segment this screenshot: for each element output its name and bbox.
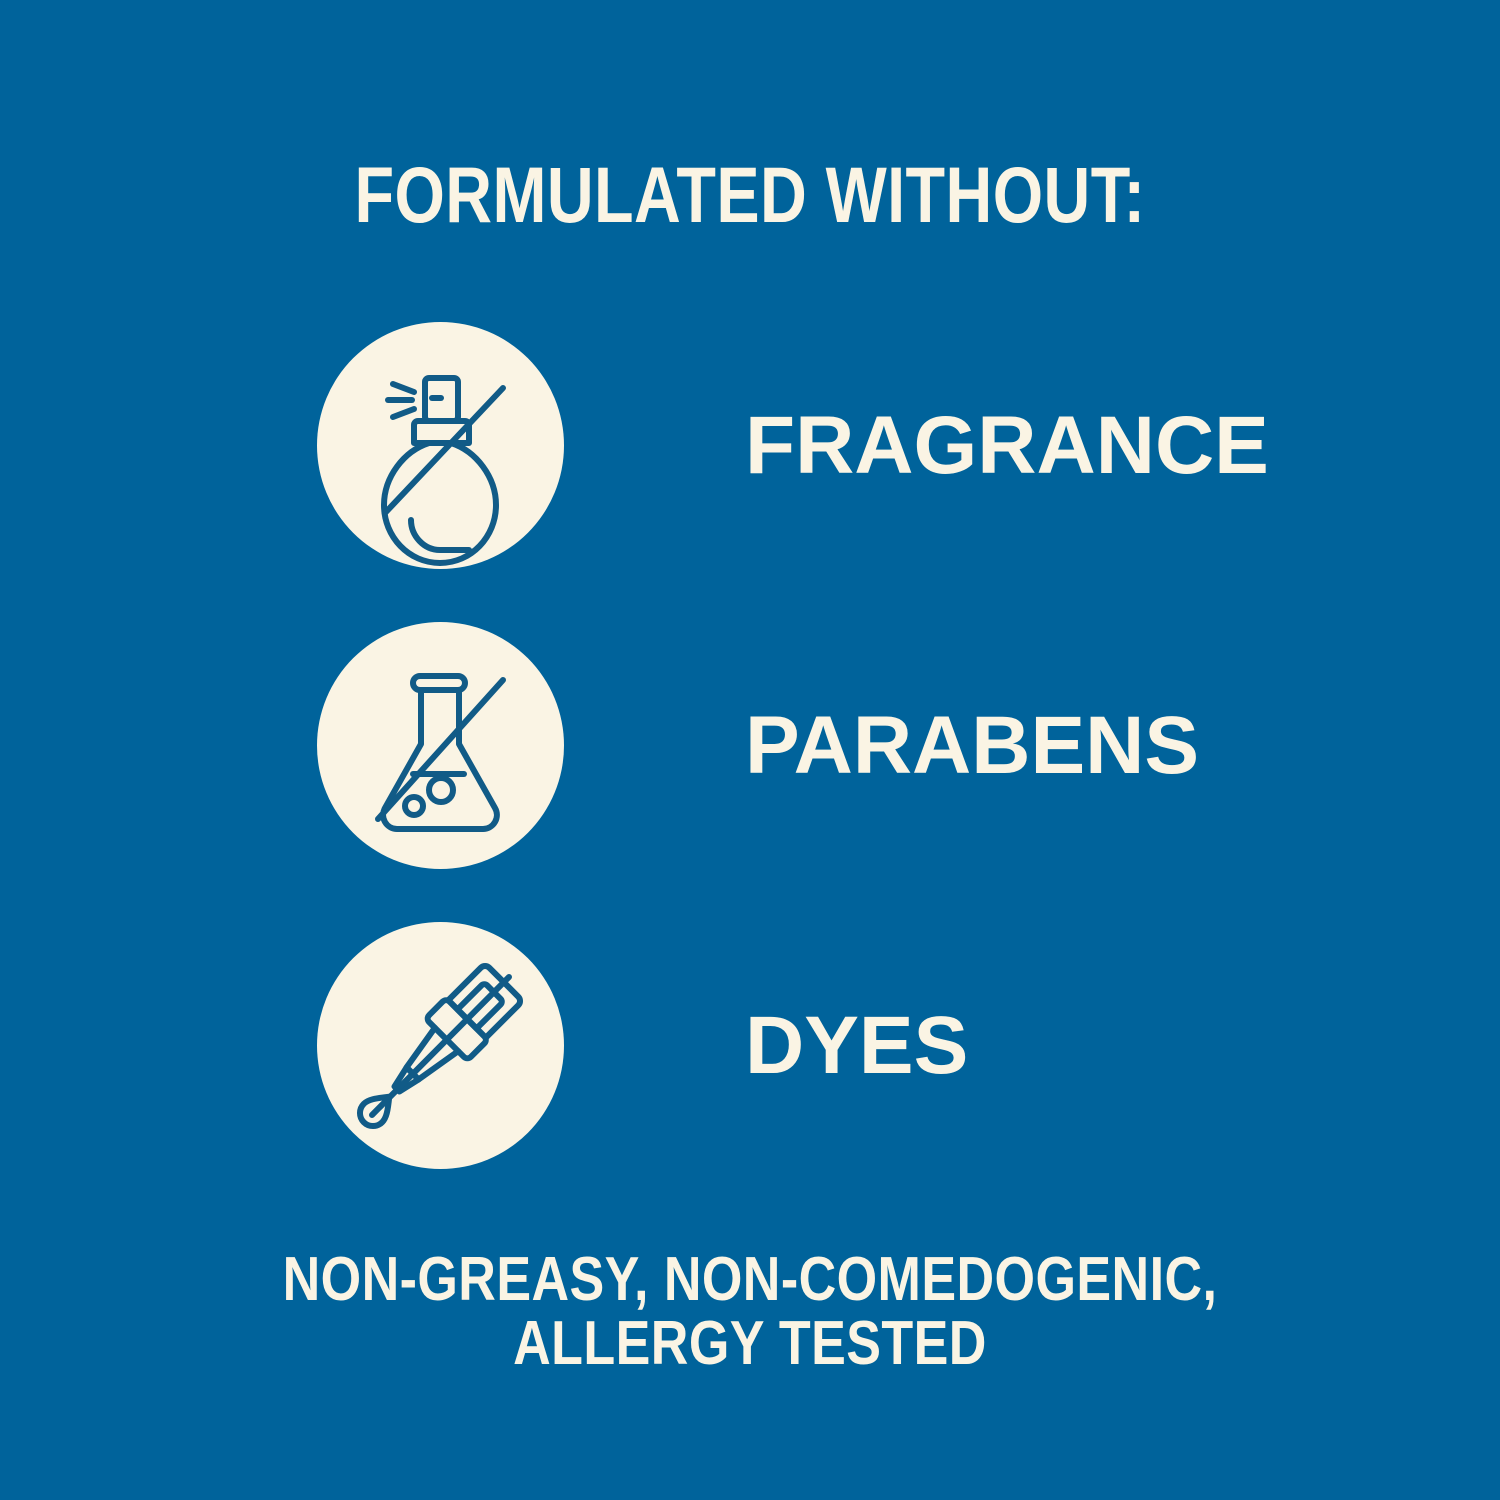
no-dyes-glyph bbox=[317, 922, 564, 1169]
no-fragrance-icon bbox=[317, 322, 564, 569]
no-parabens-icon bbox=[317, 622, 564, 869]
no-fragrance-glyph bbox=[317, 322, 564, 569]
claim-label-parabens: PARABENS bbox=[745, 622, 1199, 869]
formulated-without-poster: FORMULATED WITHOUT: bbox=[0, 0, 1500, 1500]
no-parabens-glyph bbox=[317, 622, 564, 869]
claim-row-fragrance: FRAGRANCE bbox=[0, 322, 1500, 622]
footer-line-2: ALLERGY TESTED bbox=[120, 1312, 1380, 1376]
claim-label-dyes: DYES bbox=[745, 922, 968, 1169]
claim-row-dyes: DYES bbox=[0, 922, 1500, 1222]
footer-line-1: NON-GREASY, NON-COMEDOGENIC, bbox=[120, 1248, 1380, 1312]
page-title: FORMULATED WITHOUT: bbox=[135, 155, 1365, 235]
claims-list: FRAGRANCE PARABENS bbox=[0, 322, 1500, 1222]
claim-label-fragrance: FRAGRANCE bbox=[745, 322, 1269, 569]
no-dyes-icon bbox=[317, 922, 564, 1169]
claim-row-parabens: PARABENS bbox=[0, 622, 1500, 922]
footer-claims: NON-GREASY, NON-COMEDOGENIC, ALLERGY TES… bbox=[0, 1248, 1500, 1376]
